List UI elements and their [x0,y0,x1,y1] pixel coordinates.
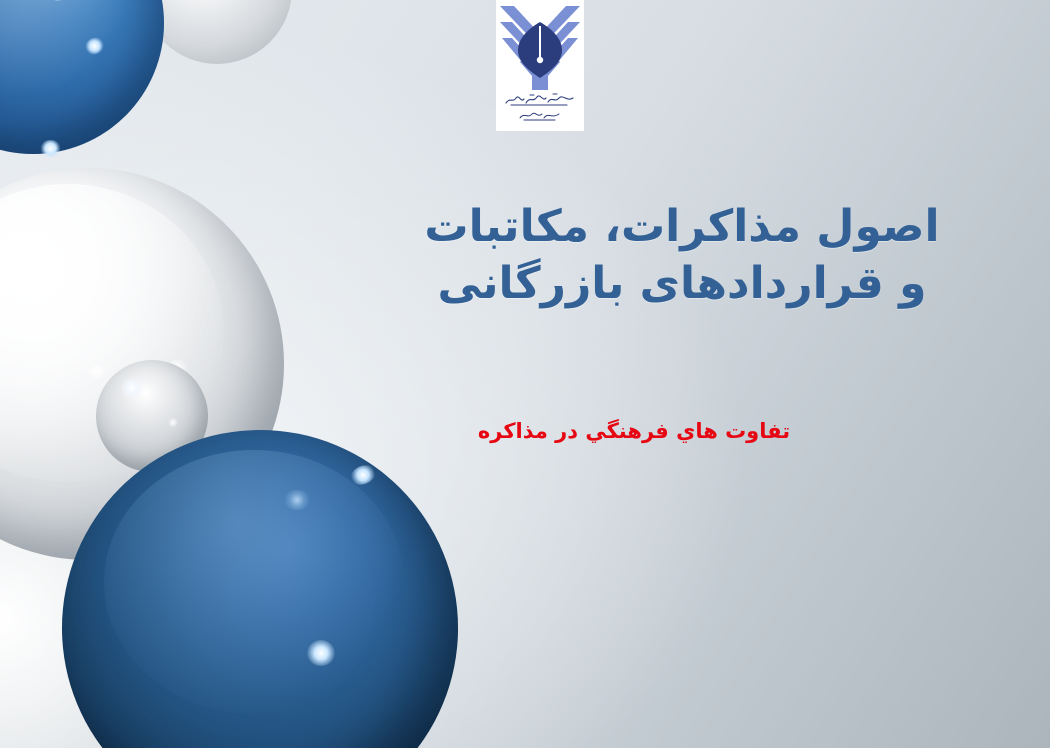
sphere-blue-top [0,0,164,154]
sphere-highlight [168,418,178,427]
title-line-1: اصول مذاكرات، مكاتبات [422,198,942,255]
title-slide: اصول مذاكرات، مكاتبات و قراردادهای بازرگ… [0,0,1050,748]
sphere-highlight [284,490,310,510]
slide-subtitle: تفاوت هاي فرهنگي در مذاكره [424,418,844,445]
sphere-sheen [104,450,404,714]
sphere-highlight [348,462,379,488]
sphere-sheen [0,0,138,98]
university-logo [496,0,584,131]
sphere-highlight [88,364,105,379]
sphere-grey-top [142,0,292,64]
azad-university-emblem-icon [498,0,582,92]
subtitle-text: تفاوت هاي فرهنگي در مذاكره [424,418,844,445]
logo-caption [501,92,579,128]
sphere-highlight [50,0,65,1]
logo-caption-line1-script [503,92,577,107]
sphere-highlight [120,378,144,398]
title-line-2: و قراردادهای بازرگانی [422,255,942,312]
slide-title: اصول مذاكرات، مكاتبات و قراردادهای بازرگ… [422,198,942,312]
sphere-highlight [40,140,61,157]
logo-caption-line2-script [517,109,563,122]
sphere-highlight [307,640,335,666]
sphere-highlight [82,34,106,57]
